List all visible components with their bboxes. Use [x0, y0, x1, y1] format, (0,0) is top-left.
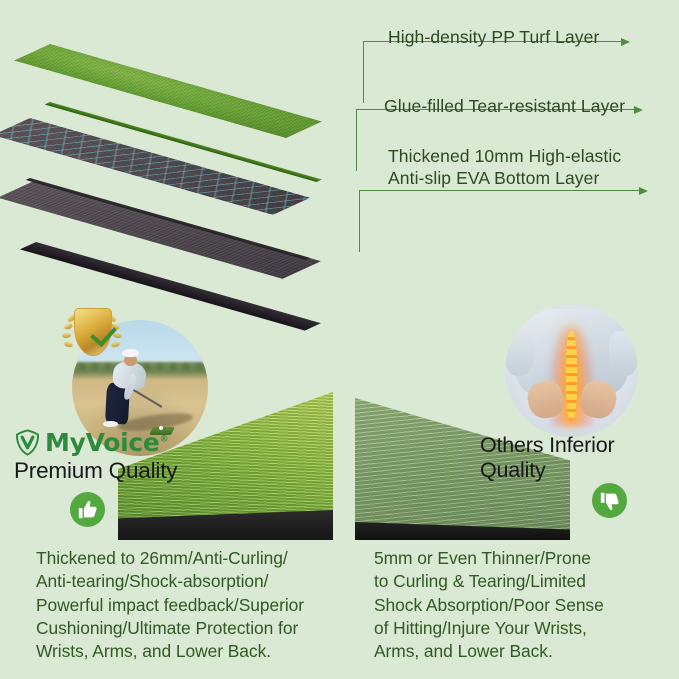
brand-block: MyVoice® Premium Quality — [14, 428, 177, 484]
brand-name-text: MyVoice — [45, 428, 160, 457]
sleeve-left — [505, 331, 534, 376]
infographic-canvas: High-density PP Turf Layer Glue-filled T… — [0, 0, 679, 679]
thumbs-up-icon — [70, 492, 105, 527]
leader-line-turf — [363, 41, 633, 103]
gold-award-shield-icon — [62, 306, 122, 370]
brand-tagline: Premium Quality — [14, 458, 177, 484]
callout-glue-label: Glue-filled Tear-resistant Layer — [384, 95, 625, 117]
brand-row: MyVoice® — [14, 428, 177, 457]
callout-eva-label: Thickened 10mm High-elastic Anti-slip EV… — [388, 145, 621, 190]
leader-line-eva — [359, 190, 649, 252]
callout-turf-label: High-density PP Turf Layer — [388, 26, 599, 48]
registered-mark: ® — [160, 435, 169, 445]
golfer-cap — [122, 349, 138, 357]
inferior-description: 5mm or Even Thinner/Prone to Curling & T… — [374, 547, 664, 664]
thumbs-down-icon — [592, 483, 627, 518]
leaf-check-shield-icon — [14, 429, 41, 456]
others-quality-title: Others Inferior Quality — [480, 433, 679, 483]
brand-name: MyVoice® — [45, 428, 168, 457]
premium-description: Thickened to 26mm/Anti-Curling/ Anti-tea… — [36, 547, 356, 664]
sleeve-right — [609, 331, 638, 376]
golfer-shoe — [103, 421, 118, 428]
layer-pp-turf — [50, 44, 322, 102]
